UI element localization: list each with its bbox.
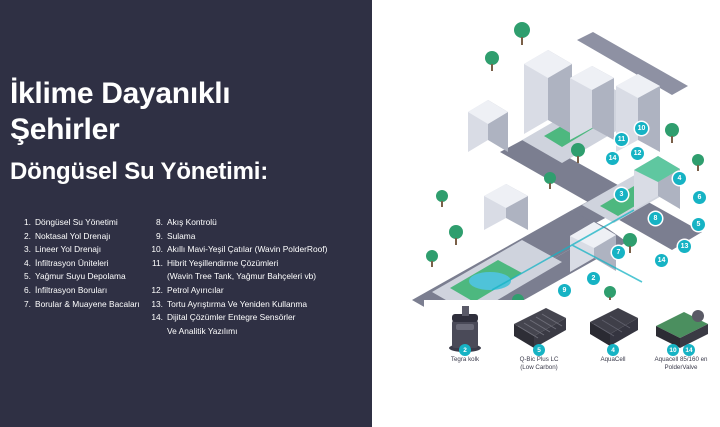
legend-item-number: 9. — [146, 230, 167, 244]
map-badge-3: 3 — [615, 188, 628, 201]
legend-item: 1.Döngüsel Su Yönetimi — [14, 216, 164, 230]
legend-item-label: Tortu Ayrıştırma Ve Yeniden Kullanma — [167, 298, 346, 312]
legend-item-number: 6. — [14, 284, 35, 298]
legend-item-continuation: (Wavin Tree Tank, Yağmur Bahçeleri vb) — [146, 270, 346, 284]
legend-item-label: Sulama — [167, 230, 346, 244]
legend-item-label: Lineer Yol Drenajı — [35, 243, 164, 257]
legend-column-left: 1.Döngüsel Su Yönetimi2.Noktasal Yol Dre… — [14, 216, 164, 311]
legend-item-label: İnfiltrasyon Üniteleri — [35, 257, 164, 271]
legend-item-number: 4. — [14, 257, 35, 271]
legend-item: 9.Sulama — [146, 230, 346, 244]
product-caption-line: PolderValve — [645, 364, 717, 372]
page-subtitle: Döngüsel Su Yönetimi: — [10, 158, 390, 186]
legend-item-number: 2. — [14, 230, 35, 244]
product-badge-2: 5 — [533, 344, 545, 356]
legend-item: 5.Yağmur Suyu Depolama — [14, 270, 164, 284]
map-badge-13: 13 — [678, 240, 691, 253]
map-badge-12: 12 — [631, 147, 644, 160]
product-caption-line: Aquacell 85/160 en — [645, 356, 717, 364]
legend-item-number: 11. — [146, 257, 167, 271]
product-caption-4: Aquacell 85/160 enPolderValve — [645, 356, 717, 372]
product-caption-line: Q-Bic Plus LC — [503, 356, 575, 364]
legend-item-number: 7. — [14, 298, 35, 312]
map-badge-8: 8 — [649, 212, 662, 225]
map-badge-11: 11 — [615, 133, 628, 146]
product-panel: Tegra kolk Q-Bic Plus LC(Low Carbon) Aqu… — [424, 300, 720, 387]
legend-item: 3.Lineer Yol Drenajı — [14, 243, 164, 257]
map-badge-7: 7 — [612, 246, 625, 259]
poster-canvas: 111014124368513714291 İklime Dayanıklı Ş… — [0, 0, 720, 427]
map-badge-6: 6 — [693, 191, 706, 204]
legend-item: 13.Tortu Ayrıştırma Ve Yeniden Kullanma — [146, 298, 346, 312]
legend-item-label: Noktasal Yol Drenajı — [35, 230, 164, 244]
map-badge-2: 2 — [587, 272, 600, 285]
legend-item-number: 8. — [146, 216, 167, 230]
map-badge-5: 5 — [692, 218, 705, 231]
legend-column-right: 8.Akış Kontrolü9.Sulama10.Akıllı Mavi-Ye… — [146, 216, 346, 338]
legend-item-label: Borular & Muayene Bacaları — [35, 298, 164, 312]
legend-item: 7.Borular & Muayene Bacaları — [14, 298, 164, 312]
legend-item-number: 12. — [146, 284, 167, 298]
legend-item-number: 10. — [146, 243, 167, 257]
page-title-line1: İklime Dayanıklı — [10, 76, 370, 112]
legend-item-continuation: Ve Analitik Yazılımı — [146, 325, 346, 339]
legend-item-label: Petrol Ayırıcılar — [167, 284, 346, 298]
legend-item-label: Yağmur Suyu Depolama — [35, 270, 164, 284]
page-title-line2: Şehirler — [10, 112, 370, 148]
product-caption-line: Tegra kolk — [429, 356, 501, 364]
product-badge-3: 4 — [607, 344, 619, 356]
legend-item-label: Akış Kontrolü — [167, 216, 346, 230]
legend-item: 6.İnfiltrasyon Boruları — [14, 284, 164, 298]
page-title: İklime Dayanıklı Şehirler — [10, 76, 370, 148]
product-caption-1: Tegra kolk — [429, 356, 501, 364]
legend-item: 14.Dijital Çözümler Entegre Sensörler — [146, 311, 346, 325]
product-caption-line: AquaCell — [577, 356, 649, 364]
product-caption-line: (Low Carbon) — [503, 364, 575, 372]
legend-item-label: Döngüsel Su Yönetimi — [35, 216, 164, 230]
legend-item: 2.Noktasal Yol Drenajı — [14, 230, 164, 244]
legend-item-label: Akıllı Mavi-Yeşil Çatılar (Wavin PolderR… — [167, 243, 346, 257]
legend-item: 12.Petrol Ayırıcılar — [146, 284, 346, 298]
map-badge-14: 14 — [655, 254, 668, 267]
product-caption-2: Q-Bic Plus LC(Low Carbon) — [503, 356, 575, 372]
product-caption-3: AquaCell — [577, 356, 649, 364]
legend-item-number: 14. — [146, 311, 167, 325]
product-badge-5: 14 — [683, 344, 695, 356]
legend-item-label: Dijital Çözümler Entegre Sensörler — [167, 311, 346, 325]
legend-item-number: 1. — [14, 216, 35, 230]
map-badge-14: 14 — [606, 152, 619, 165]
legend-item: 11.Hibrit Yeşillendirme Çözümleri — [146, 257, 346, 271]
legend-item-number: 13. — [146, 298, 167, 312]
legend-item-number: 5. — [14, 270, 35, 284]
legend-item: 8.Akış Kontrolü — [146, 216, 346, 230]
legend-item-label: Hibrit Yeşillendirme Çözümleri — [167, 257, 346, 271]
map-badge-4: 4 — [673, 172, 686, 185]
map-badge-9: 9 — [558, 284, 571, 297]
product-badge-1: 2 — [459, 344, 471, 356]
map-badge-10: 10 — [635, 122, 648, 135]
legend-item-number: 3. — [14, 243, 35, 257]
legend-item-label: İnfiltrasyon Boruları — [35, 284, 164, 298]
product-badge-4: 10 — [667, 344, 679, 356]
legend-item: 4.İnfiltrasyon Üniteleri — [14, 257, 164, 271]
legend-item: 10.Akıllı Mavi-Yeşil Çatılar (Wavin Pold… — [146, 243, 346, 257]
